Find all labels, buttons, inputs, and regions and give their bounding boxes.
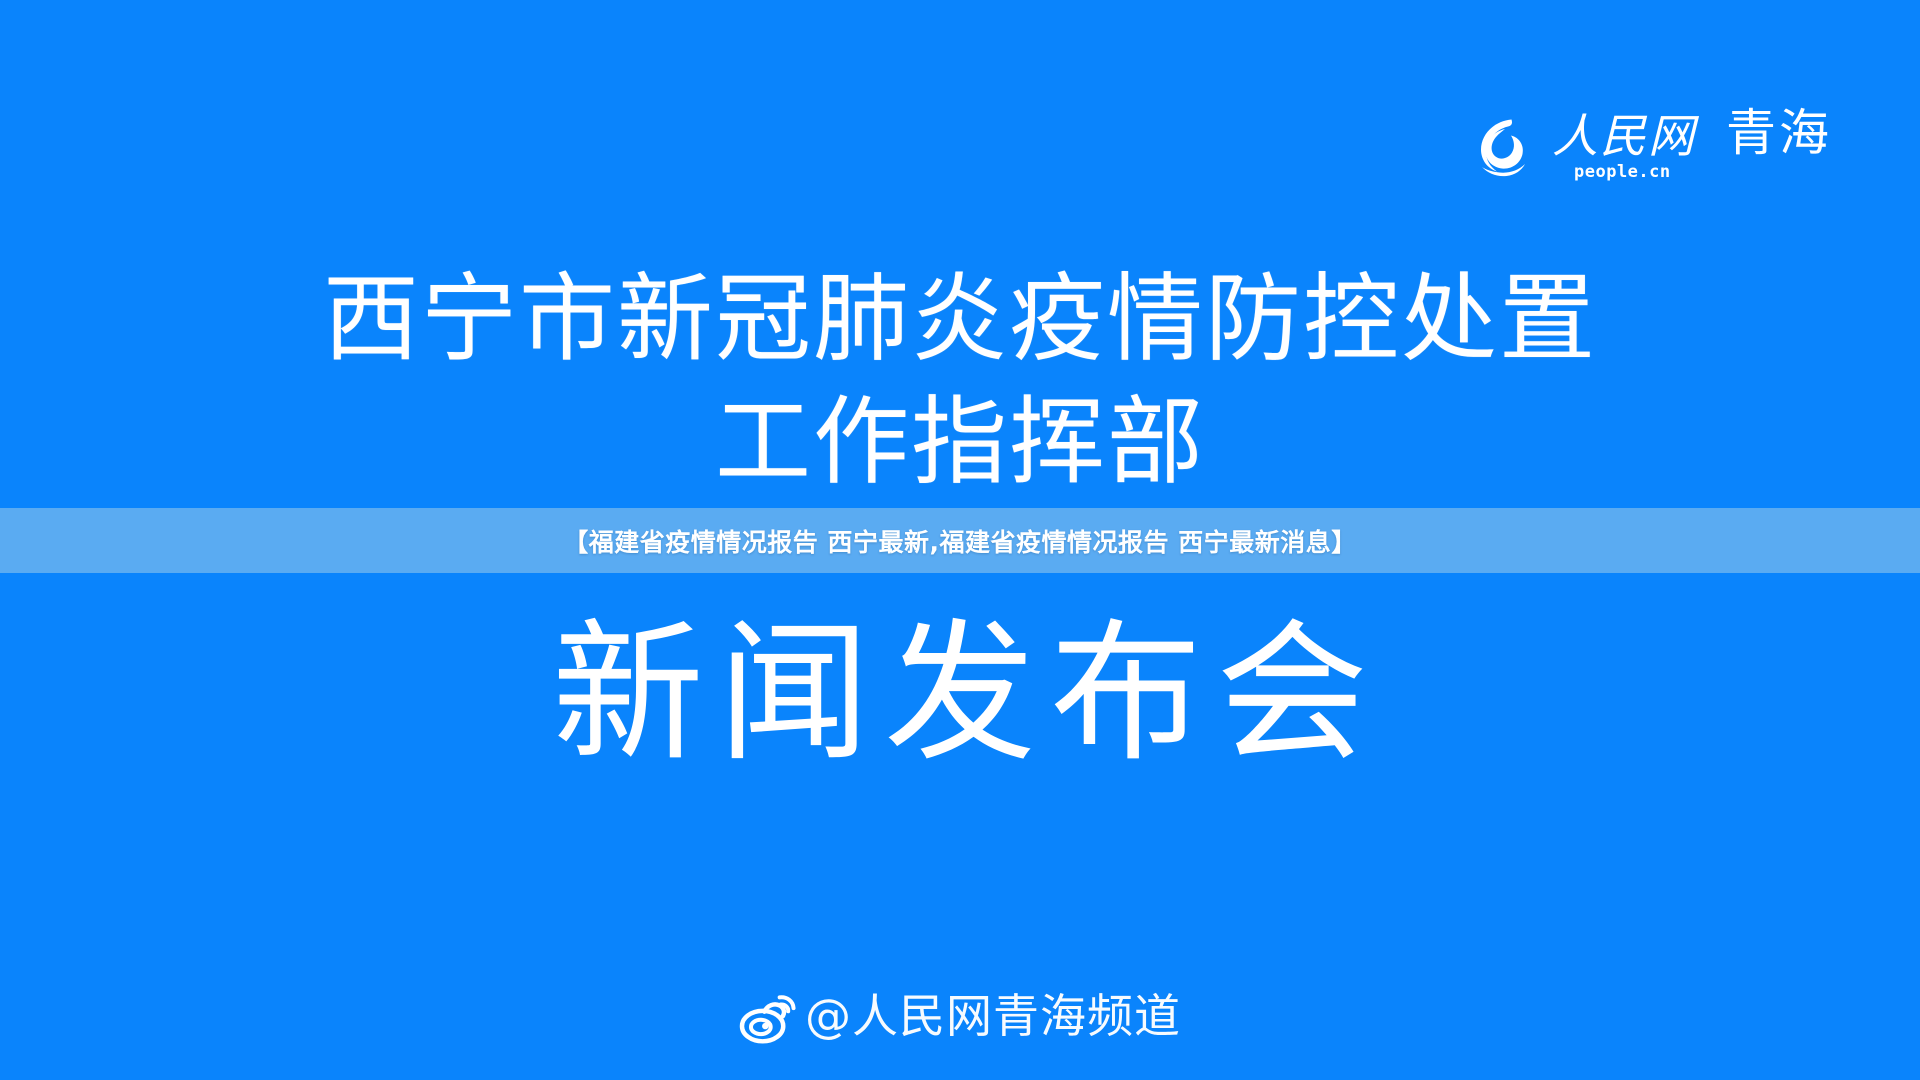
poster-canvas: 人民网 people.cn 青海 西宁市新冠肺炎疫情防控处置 工作指挥部 新闻发… bbox=[0, 0, 1920, 1080]
brand-name-cn: 人民网 bbox=[1552, 113, 1696, 159]
brand-wordmark: 人民网 people.cn bbox=[1552, 112, 1696, 182]
caption-text: 【福建省疫情情况报告 西宁最新,福建省疫情情况报告 西宁最新消息】 bbox=[563, 523, 1356, 559]
subject-title: 新闻发布会 bbox=[0, 610, 1920, 777]
brand-lockup: 人民网 people.cn 青海 bbox=[1470, 104, 1832, 190]
people-cn-wave-emblem-icon bbox=[1470, 115, 1534, 179]
weibo-icon bbox=[739, 992, 797, 1044]
headline: 西宁市新冠肺炎疫情防控处置 工作指挥部 bbox=[0, 258, 1920, 504]
caption-band: 【福建省疫情情况报告 西宁最新,福建省疫情情况报告 西宁最新消息】 bbox=[0, 508, 1920, 573]
weibo-handle: @人民网青海频道 bbox=[805, 993, 1181, 1039]
brand-domain: people.cn bbox=[1574, 162, 1671, 182]
headline-line-2: 工作指挥部 bbox=[0, 381, 1920, 504]
headline-line-1: 西宁市新冠肺炎疫情防控处置 bbox=[0, 258, 1920, 381]
weibo-footer: @人民网青海频道 bbox=[0, 990, 1920, 1042]
brand-region: 青海 bbox=[1726, 108, 1832, 158]
